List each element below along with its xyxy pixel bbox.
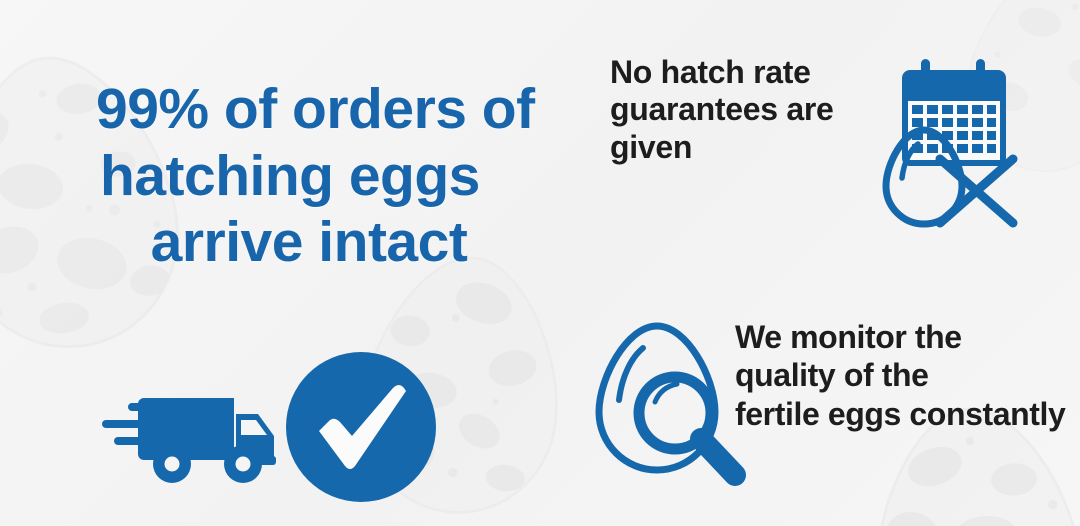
top-right-line-3: given — [610, 129, 892, 166]
bottom-right-block: We monitor the quality of the fertile eg… — [595, 308, 1080, 508]
top-right-line-1: No hatch rate — [610, 54, 892, 91]
infographic-slide: 99% of orders of hatching eggs arrive in… — [0, 0, 1080, 526]
headline-line-1: 99% of orders of — [96, 76, 566, 143]
calendar-egg-cross-icon — [878, 56, 1030, 238]
bottom-right-line-2: quality of the — [735, 356, 1080, 394]
top-right-line-2: guarantees are — [610, 91, 892, 128]
bottom-right-text: We monitor the quality of the fertile eg… — [735, 318, 1080, 433]
headline-line-2: hatching eggs — [96, 143, 566, 210]
headline: 99% of orders of hatching eggs arrive in… — [96, 76, 566, 276]
bottom-right-line-1: We monitor the — [735, 318, 1080, 356]
bottom-right-line-3: fertile eggs constantly — [735, 395, 1080, 433]
top-right-block: No hatch rate guarantees are given — [610, 48, 1065, 228]
headline-line-3: arrive intact — [96, 209, 566, 276]
check-circle-icon — [285, 351, 437, 503]
delivery-truck-icon — [100, 384, 276, 484]
egg-magnifier-icon — [595, 320, 753, 490]
top-right-text: No hatch rate guarantees are given — [610, 54, 892, 166]
